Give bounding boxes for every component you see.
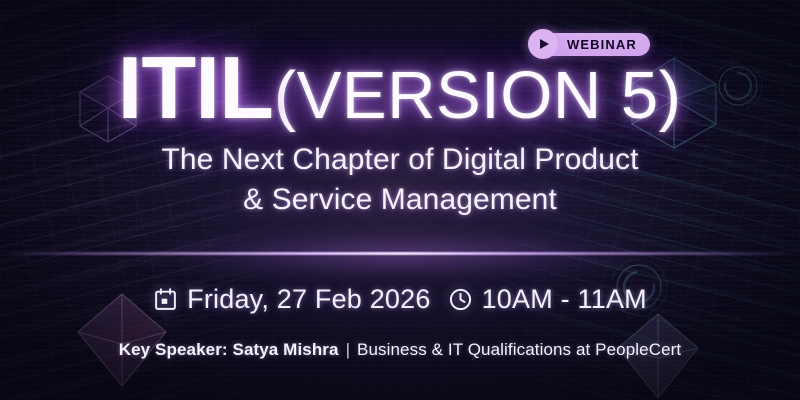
page-subtitle: The Next Chapter of Digital Product & Se… — [0, 140, 800, 220]
speaker-separator: | — [346, 340, 350, 360]
subtitle-line-2: & Service Management — [0, 180, 800, 220]
clock-icon — [448, 287, 473, 312]
title-primary: ITIL — [117, 44, 272, 132]
title-secondary: (VERSION 5) — [274, 62, 682, 129]
event-time-text: 10AM - 11AM — [482, 286, 647, 313]
datetime-row: Friday, 27 Feb 2026 10AM - 11AM — [0, 286, 800, 313]
event-date: Friday, 27 Feb 2026 — [153, 286, 430, 313]
speaker-row: Key Speaker: Satya Mishra | Business & I… — [0, 340, 800, 360]
event-time: 10AM - 11AM — [448, 286, 647, 313]
speaker-name: Key Speaker: Satya Mishra — [119, 340, 339, 360]
subtitle-line-1: The Next Chapter of Digital Product — [161, 143, 638, 176]
light-streak — [0, 252, 800, 255]
calendar-icon — [153, 287, 178, 312]
event-date-text: Friday, 27 Feb 2026 — [187, 286, 430, 313]
play-icon — [528, 29, 558, 59]
webinar-banner: WEBINAR ITIL (VERSION 5) The Next Chapte… — [0, 0, 800, 400]
speaker-role: Business & IT Qualifications at PeopleCe… — [357, 340, 681, 360]
page-title: ITIL (VERSION 5) — [0, 44, 800, 132]
